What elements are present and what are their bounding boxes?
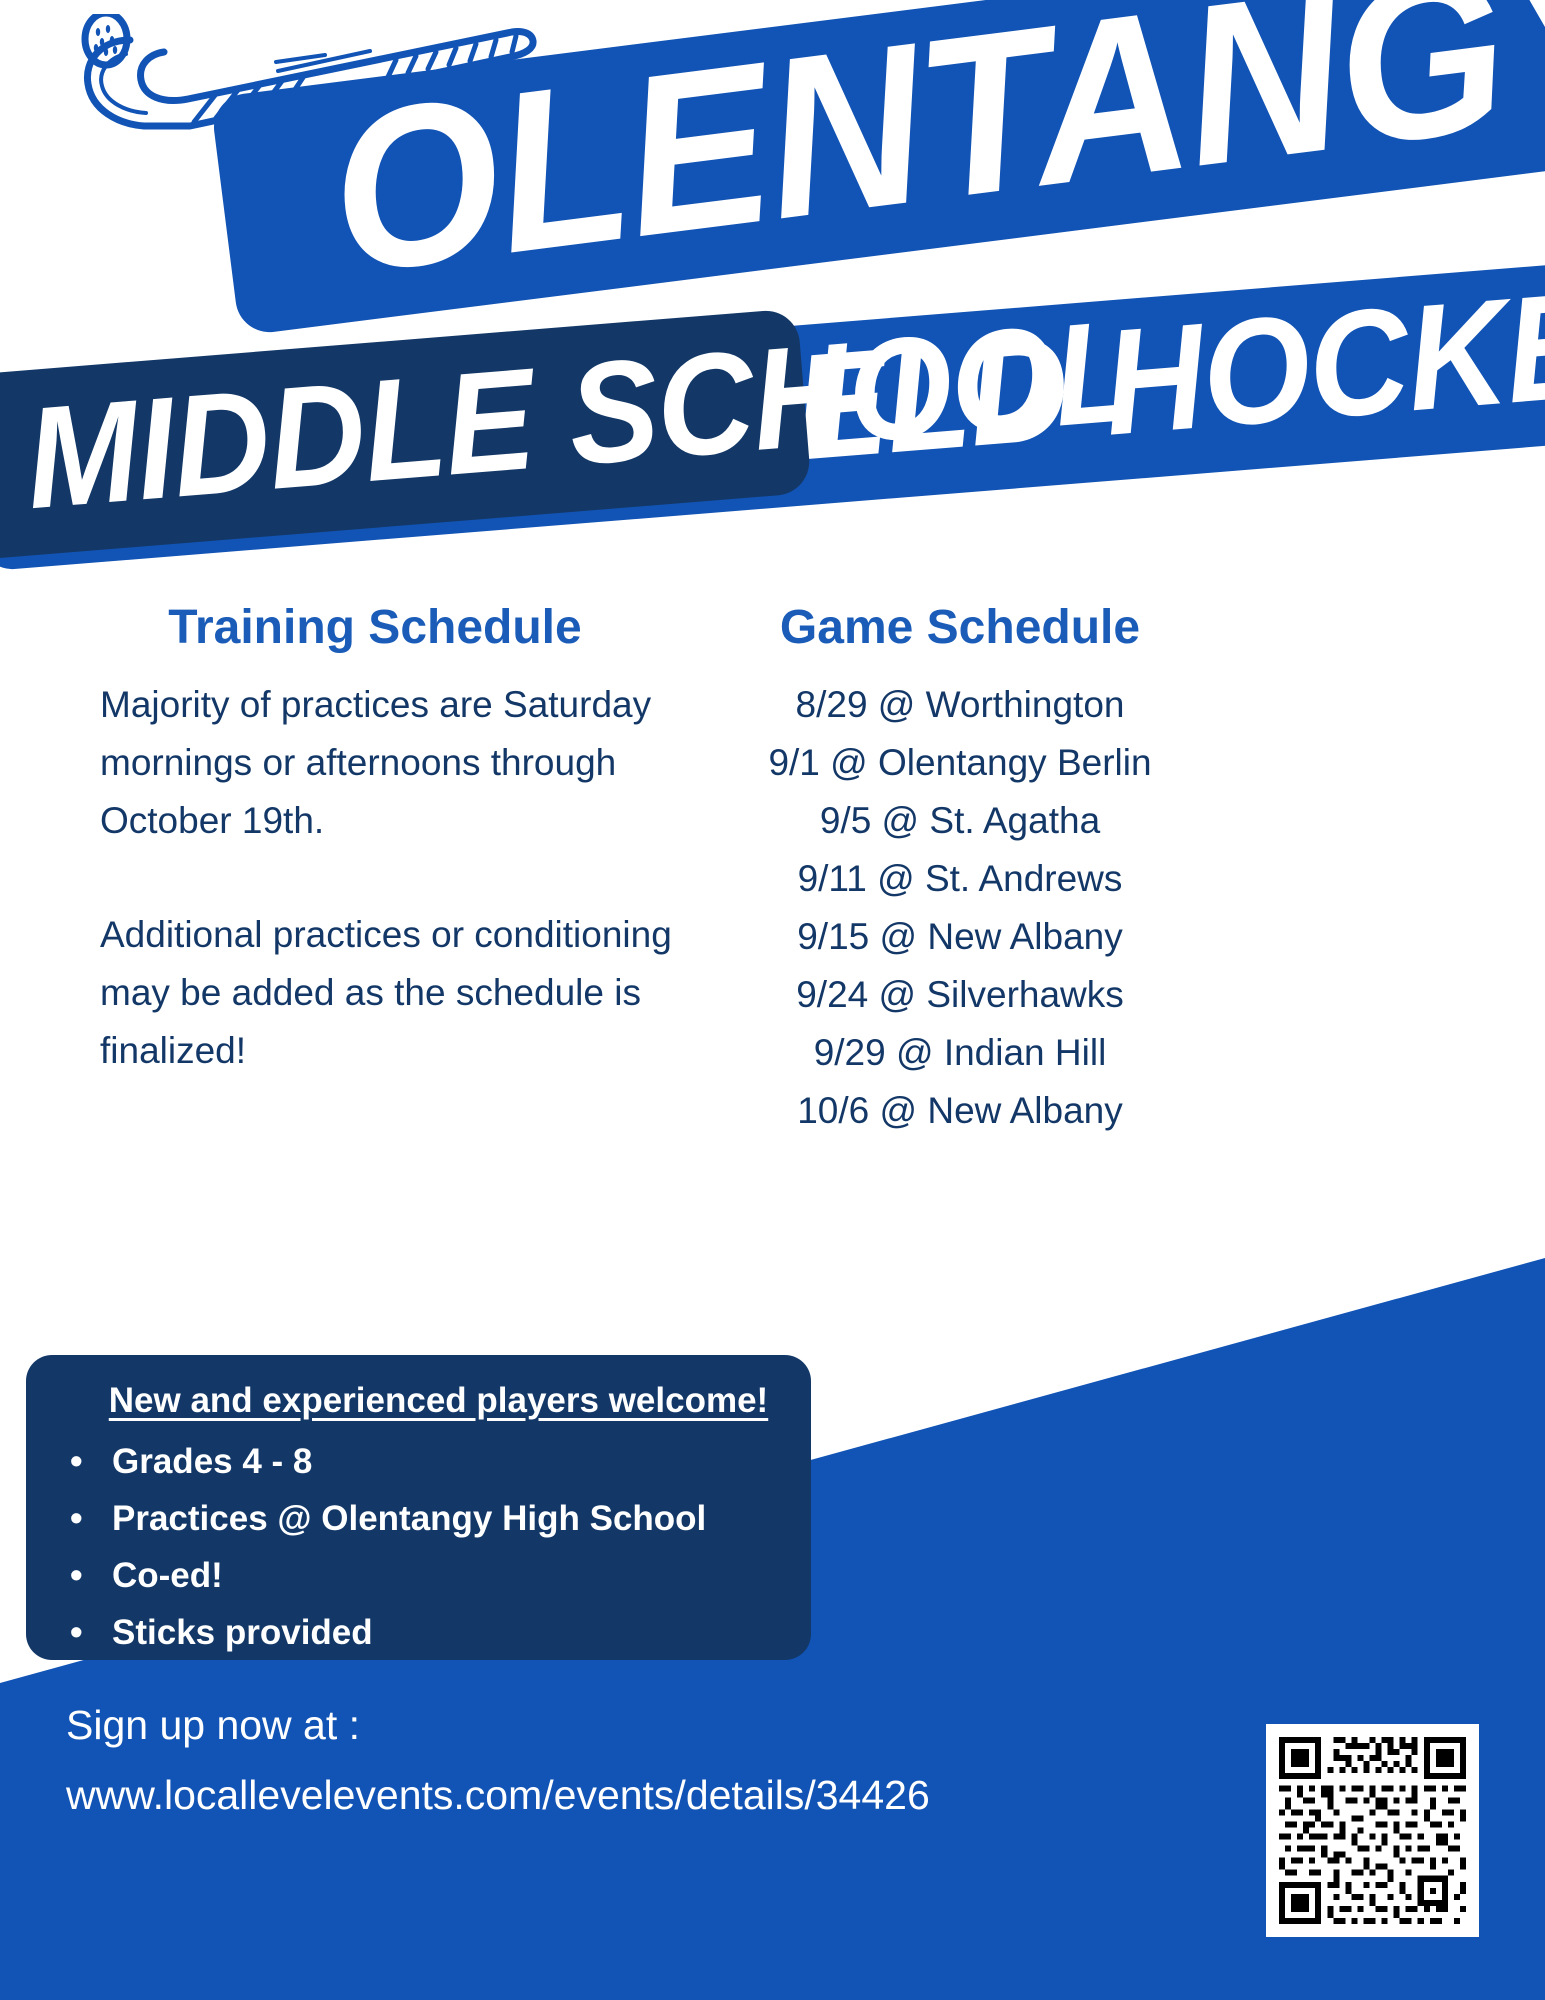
signup-url[interactable]: www.locallevelevents.com/events/details/… — [66, 1760, 1066, 1830]
poster-header: OLENTANGY FIELD HOCKEY MIDDLE SCHOOL — [0, 0, 1545, 580]
info-callout-box: New and experienced players welcome! Gra… — [26, 1355, 811, 1660]
qr-code[interactable] — [1266, 1724, 1479, 1937]
game-list-item: 9/5 @ St. Agatha — [730, 792, 1190, 850]
game-schedule-section: Game Schedule 8/29 @ Worthington 9/1 @ O… — [730, 598, 1190, 1140]
game-list-item: 9/11 @ St. Andrews — [730, 850, 1190, 908]
info-bullet-item: Grades 4 - 8 — [56, 1433, 781, 1490]
title-olentangy: OLENTANGY — [318, 0, 1545, 314]
game-list-item: 9/29 @ Indian Hill — [730, 1024, 1190, 1082]
game-schedule-list: 8/29 @ Worthington 9/1 @ Olentangy Berli… — [730, 676, 1190, 1140]
game-schedule-heading: Game Schedule — [730, 598, 1190, 658]
training-schedule-section: Training Schedule Majority of practices … — [100, 598, 720, 1080]
info-bullet-item: Sticks provided — [56, 1604, 781, 1661]
game-list-item: 9/1 @ Olentangy Berlin — [730, 734, 1190, 792]
title-middle-school: MIDDLE SCHOOL — [19, 278, 1142, 553]
info-bullet-item: Co-ed! — [56, 1547, 781, 1604]
signup-cta-label: Sign up now at : — [66, 1690, 1066, 1760]
game-list-item: 9/15 @ New Albany — [730, 908, 1190, 966]
training-paragraph-2: Additional practices or conditioning may… — [100, 906, 720, 1080]
game-list-item: 9/24 @ Silverhawks — [730, 966, 1190, 1024]
info-box-heading: New and experienced players welcome! — [56, 1377, 781, 1425]
signup-footer: Sign up now at : www.locallevelevents.co… — [66, 1690, 1066, 1830]
info-bullet-item: Practices @ Olentangy High School — [56, 1490, 781, 1547]
training-paragraph-1: Majority of practices are Saturday morni… — [100, 676, 720, 850]
game-list-item: 8/29 @ Worthington — [730, 676, 1190, 734]
game-list-item: 10/6 @ New Albany — [730, 1082, 1190, 1140]
info-box-bullet-list: Grades 4 - 8 Practices @ Olentangy High … — [56, 1433, 781, 1661]
training-schedule-heading: Training Schedule — [100, 598, 720, 658]
